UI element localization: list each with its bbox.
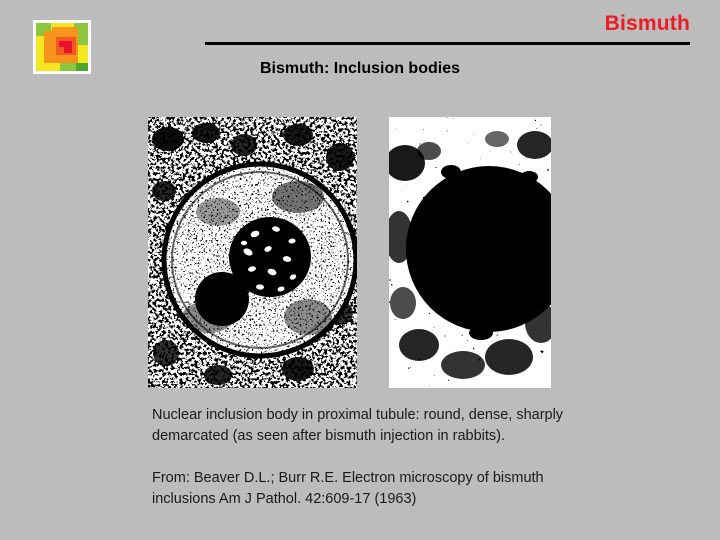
- slide-subtitle: Bismuth: Inclusion bodies: [0, 60, 720, 78]
- slide-canvas: Bismuth Bismuth: Inclusion bodies: [0, 0, 720, 540]
- electron-micrograph-nucleus: [148, 117, 357, 388]
- micrograph-left-graphic: [148, 117, 357, 388]
- micrograph-right-graphic: [389, 117, 551, 388]
- electron-micrograph-inclusion-closeup: [389, 117, 551, 388]
- citation-line-1: From: Beaver D.L.; Burr R.E. Electron mi…: [152, 468, 692, 489]
- caption-line-2: demarcated (as seen after bismuth inject…: [152, 426, 692, 447]
- header-divider: [205, 42, 690, 45]
- logo-orange-block-4: [56, 47, 64, 54]
- citation-line-2: inclusions Am J Pathol. 42:609-17 (1963): [152, 489, 692, 510]
- figure-caption: Nuclear inclusion body in proximal tubul…: [152, 405, 692, 447]
- figure-citation: From: Beaver D.L.; Burr R.E. Electron mi…: [152, 468, 692, 510]
- page-title: Bismuth: [605, 13, 690, 34]
- caption-line-1: Nuclear inclusion body in proximal tubul…: [152, 405, 692, 426]
